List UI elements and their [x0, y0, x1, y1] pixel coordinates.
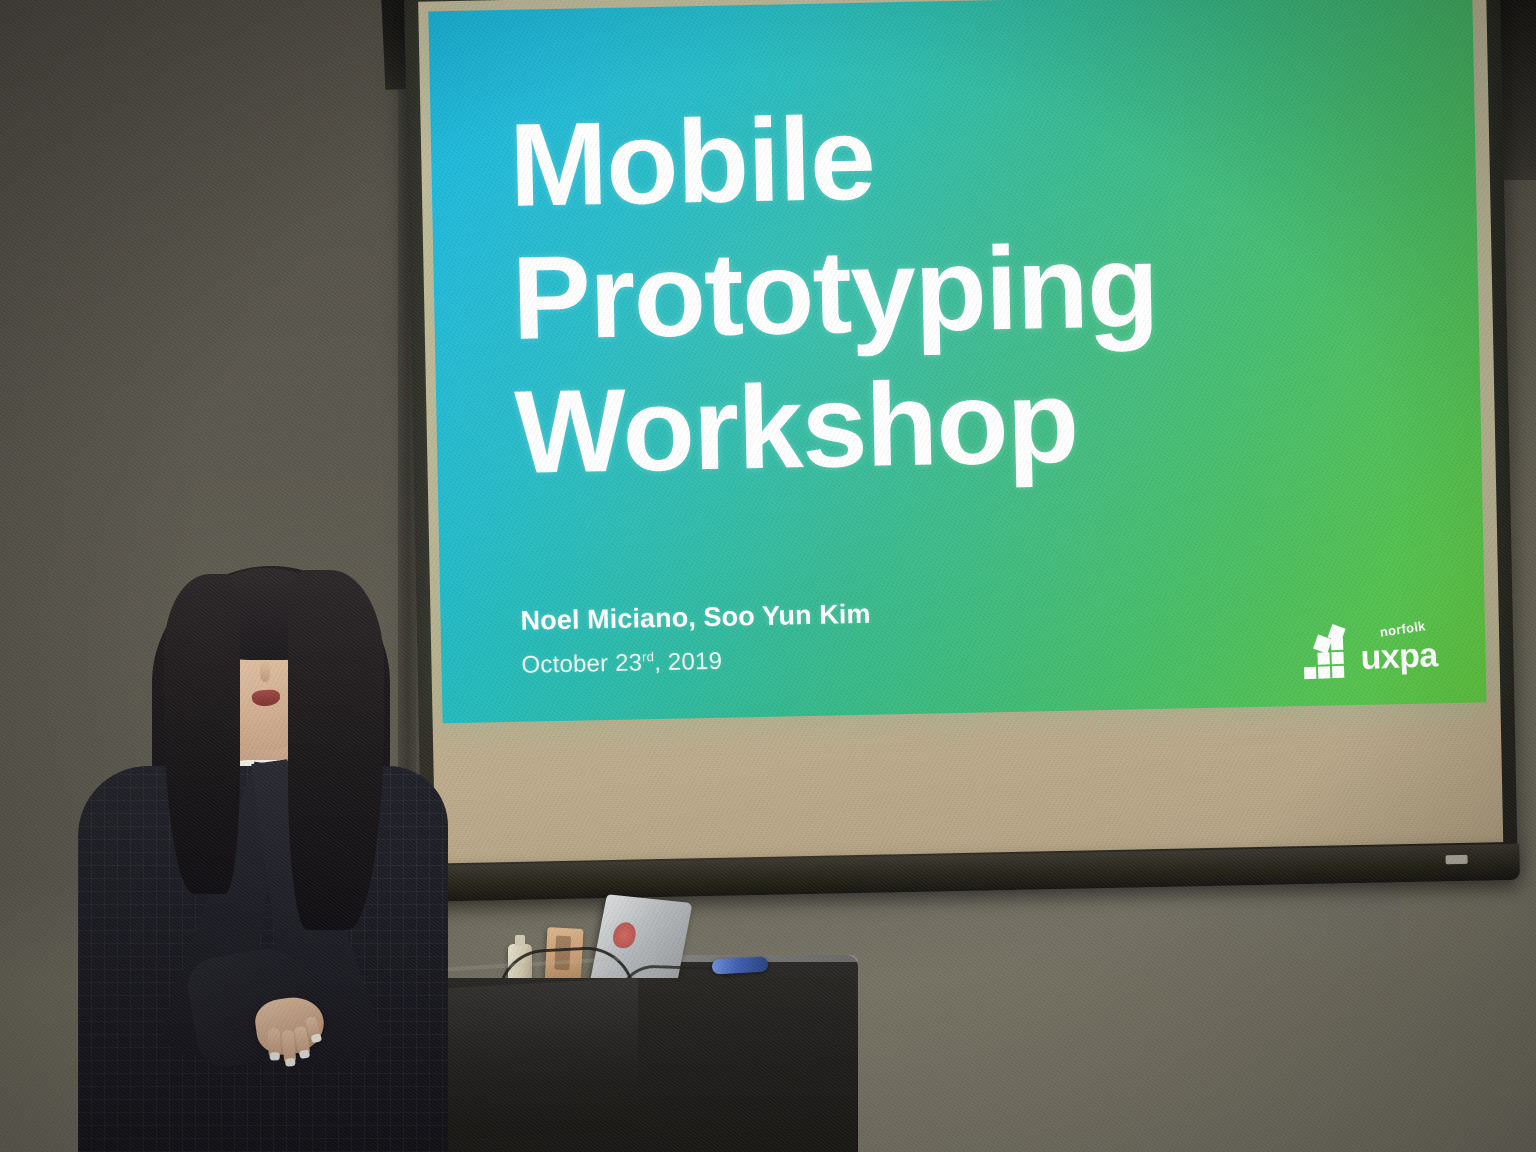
- slide-date-ordinal: rd: [642, 649, 654, 664]
- hair-strand-left: [164, 574, 240, 894]
- screen-roller-knob: [1445, 855, 1467, 864]
- nose: [260, 660, 270, 682]
- slide-date: October 23rd, 2019: [521, 648, 722, 680]
- hair-strand-right: [288, 570, 384, 930]
- slide-date-rest: , 2019: [654, 648, 722, 676]
- stair-step-blocks-icon: [1302, 625, 1354, 679]
- logo-org-top: norfolk: [1379, 619, 1427, 638]
- presenter: [60, 560, 460, 1152]
- blue-device: [712, 957, 769, 975]
- slide-title: Mobile Prototyping Workshop: [508, 83, 1346, 500]
- projected-slide: Mobile Prototyping Workshop Noel Miciano…: [428, 0, 1486, 723]
- slide-date-main: October 23: [521, 649, 642, 678]
- slide-presenters: Noel Miciano, Soo Yun Kim: [520, 599, 871, 637]
- projection-screen-assembly: Mobile Prototyping Workshop Noel Miciano…: [404, 0, 1518, 894]
- logo-wordmark: norfolk uxpa: [1360, 638, 1438, 677]
- logo-org-name: uxpa: [1360, 636, 1438, 677]
- uxpa-logo: norfolk uxpa: [1302, 622, 1438, 679]
- laptop-sticker: [611, 921, 638, 949]
- conference-room-photo: Mobile Prototyping Workshop Noel Miciano…: [0, 0, 1536, 1152]
